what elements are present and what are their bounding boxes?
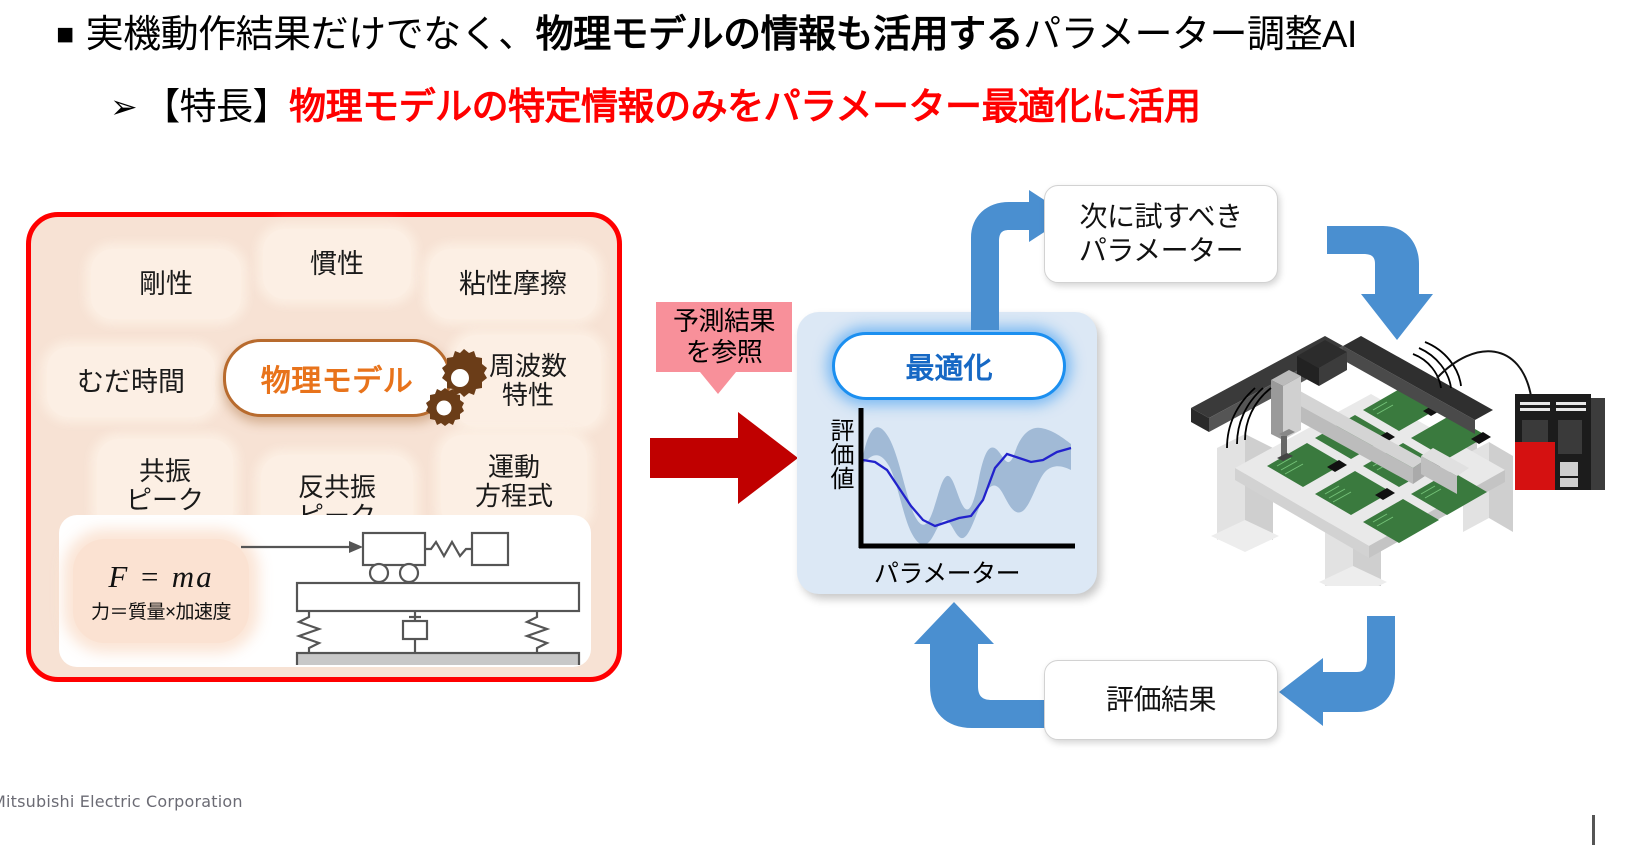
tag-dead-time-label: むだ時間 (77, 367, 185, 397)
callout-tail-icon (700, 372, 736, 394)
controller-accent (1515, 442, 1555, 490)
formula-equation: F = ma (108, 559, 213, 595)
physical-model-label: 物理モデル (261, 356, 414, 400)
tag-viscous-friction-label: 粘性摩擦 (459, 269, 567, 299)
footer-tick-mark (1592, 815, 1595, 845)
optimization-panel: 最適化 評価値 パラメーター (797, 312, 1097, 594)
mechanical-diagram-card: F = ma 力＝質量×加速度 (59, 515, 591, 667)
heading-line-1: ■実機動作結果だけでなく、物理モデルの情報も活用するパラメーター調整AI (56, 14, 1357, 58)
optimization-pill: 最適化 (832, 332, 1066, 400)
tag-viscous-friction: 粘性摩擦 (429, 249, 597, 319)
evaluation-result-box: 評価結果 (1044, 660, 1278, 740)
chart-xlabel: パラメーター (797, 554, 1097, 590)
gears-icon (419, 345, 493, 427)
mass-spring-damper-diagram (237, 521, 583, 665)
tag-resonance-peak-label: 共振 ピーク (126, 457, 204, 515)
heading-line1-bold: 物理モデルの情報も活用する (536, 14, 1024, 56)
tag-equation-of-motion-label: 運動 方程式 (475, 453, 553, 511)
tag-dead-time: むだ時間 (47, 347, 215, 417)
tag-stiffness: 剛性 (91, 249, 241, 319)
heading-block: ■実機動作結果だけでなく、物理モデルの情報も活用するパラメーター調整AI ➢【特… (0, 0, 1625, 150)
tag-inertia: 慣性 (263, 229, 411, 299)
predict-result-callout: 予測結果 を参照 (656, 302, 792, 372)
footer-copyright: Mitsubishi Electric Corporation (0, 792, 243, 811)
arrow-curve-up-icon (910, 602, 1050, 732)
predict-callout-line2: を参照 (673, 337, 775, 368)
physical-model-pill: 物理モデル (223, 339, 451, 417)
square-bullet-icon: ■ (56, 18, 74, 51)
red-right-arrow-icon (650, 408, 800, 508)
tag-frequency-response-label: 周波数 特性 (489, 352, 567, 410)
formula-badge: F = ma 力＝質量×加速度 (73, 539, 249, 643)
tag-inertia-label: 慣性 (310, 249, 364, 279)
heading-line-2: ➢【特長】物理モデルの特定情報のみをパラメーター最適化に活用 (110, 86, 1201, 129)
heading-line1-part3: パラメーター調整AI (1023, 14, 1357, 56)
heading-line1-part1: 実機動作結果だけでなく、 (86, 14, 536, 56)
arrow-bullet-icon: ➢ (110, 88, 137, 125)
tag-stiffness-label: 剛性 (139, 269, 193, 299)
heading-line2-bracket: 【特長】 (143, 86, 289, 127)
arrow-curve-left-icon (1279, 616, 1399, 736)
predict-callout-line1: 予測結果 (673, 306, 775, 337)
heading-line2-red: 物理モデルの特定情報のみをパラメーター最適化に活用 (289, 86, 1200, 127)
physics-model-panel: 剛性 慣性 粘性摩擦 むだ時間 周波数 特性 共振 ピーク 反共振 ピーク 運動… (26, 212, 622, 682)
next-parameter-box: 次に試すべき パラメーター (1044, 185, 1278, 283)
next-parameter-label: 次に試すべき パラメーター (1079, 200, 1243, 268)
chart-ylabel: 評価値 (824, 418, 854, 495)
optimization-chart (819, 408, 1077, 558)
evaluation-result-label: 評価結果 (1106, 683, 1216, 717)
formula-japanese: 力＝質量×加速度 (91, 597, 231, 624)
chart-uncertainty-band (863, 427, 1071, 545)
optimization-label: 最適化 (905, 345, 992, 387)
pick-and-place-machine-illustration (1175, 336, 1605, 586)
